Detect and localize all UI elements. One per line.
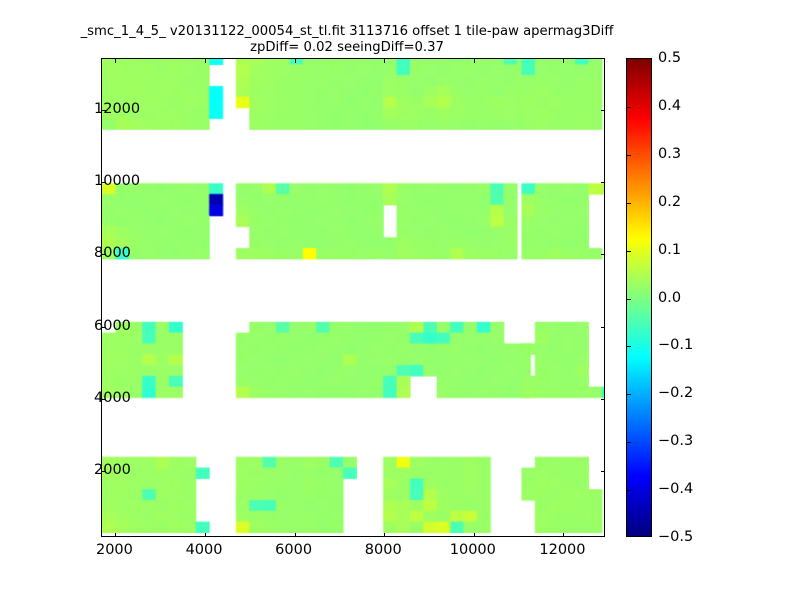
y-tick-mark-right xyxy=(601,110,605,111)
y-tick-label: 4000 xyxy=(94,390,131,406)
heatmap-axes xyxy=(101,58,605,537)
colorbar-tick-mark xyxy=(627,299,631,300)
colorbar-tick-label: 0.3 xyxy=(658,146,681,162)
colorbar-tick-mark xyxy=(627,251,631,252)
x-tick-mark xyxy=(115,533,116,537)
x-tick-mark xyxy=(384,533,385,537)
colorbar-tick-label: 0.5 xyxy=(658,50,681,66)
figure: _smc_1_4_5_ v20131122_00054_st_tl.fit 31… xyxy=(0,0,800,600)
x-tick-mark-top xyxy=(115,59,116,63)
x-tick-mark-top xyxy=(205,59,206,63)
colorbar-tick-label: −0.1 xyxy=(658,337,693,353)
colorbar-tick-label: 0.1 xyxy=(658,242,681,258)
chart-subtitle-line2: zpDiff= 0.02 seeingDiff=0.37 xyxy=(0,40,694,56)
y-tick-mark-right xyxy=(601,182,605,183)
y-tick-label: 2000 xyxy=(94,462,131,478)
colorbar-tick-mark xyxy=(627,394,631,395)
colorbar-tick-label: −0.4 xyxy=(658,481,693,497)
colorbar-tick-label: 0.4 xyxy=(658,98,681,114)
y-tick-mark-right xyxy=(601,327,605,328)
y-tick-mark-right xyxy=(601,399,605,400)
x-tick-label: 12000 xyxy=(539,542,585,558)
colorbar-gradient xyxy=(627,59,651,536)
x-tick-mark-top xyxy=(295,59,296,63)
colorbar-tick-label: 0.0 xyxy=(658,290,681,306)
colorbar-tick-mark xyxy=(627,346,631,347)
y-tick-label: 12000 xyxy=(94,101,140,117)
x-tick-label: 4000 xyxy=(186,542,223,558)
heatmap-canvas xyxy=(102,59,604,536)
chart-title-line1: _smc_1_4_5_ v20131122_00054_st_tl.fit 31… xyxy=(0,24,694,40)
colorbar-tick-mark xyxy=(627,107,631,108)
x-tick-label: 2000 xyxy=(96,542,133,558)
colorbar-tick-mark xyxy=(627,442,631,443)
x-tick-mark-top xyxy=(474,59,475,63)
x-tick-mark xyxy=(474,533,475,537)
y-tick-mark-right xyxy=(601,254,605,255)
x-tick-mark xyxy=(295,533,296,537)
y-tick-label: 6000 xyxy=(94,318,131,334)
colorbar-tick-mark xyxy=(627,490,631,491)
colorbar-tick-label: −0.3 xyxy=(658,433,693,449)
colorbar-tick-label: −0.2 xyxy=(658,385,693,401)
colorbar-tick-label: −0.5 xyxy=(658,529,693,545)
x-tick-label: 6000 xyxy=(275,542,312,558)
y-tick-label: 8000 xyxy=(94,245,131,261)
y-tick-mark-right xyxy=(601,471,605,472)
x-tick-mark xyxy=(205,533,206,537)
colorbar-tick-mark xyxy=(627,155,631,156)
colorbar-tick-label: 0.2 xyxy=(658,194,681,210)
x-tick-mark-top xyxy=(563,59,564,63)
y-tick-label: 10000 xyxy=(94,173,140,189)
x-tick-label: 10000 xyxy=(450,542,496,558)
x-tick-mark xyxy=(563,533,564,537)
chart-title-block: _smc_1_4_5_ v20131122_00054_st_tl.fit 31… xyxy=(0,24,694,55)
x-tick-mark-top xyxy=(384,59,385,63)
colorbar xyxy=(626,58,652,537)
x-tick-label: 8000 xyxy=(365,542,402,558)
colorbar-tick-mark xyxy=(627,203,631,204)
